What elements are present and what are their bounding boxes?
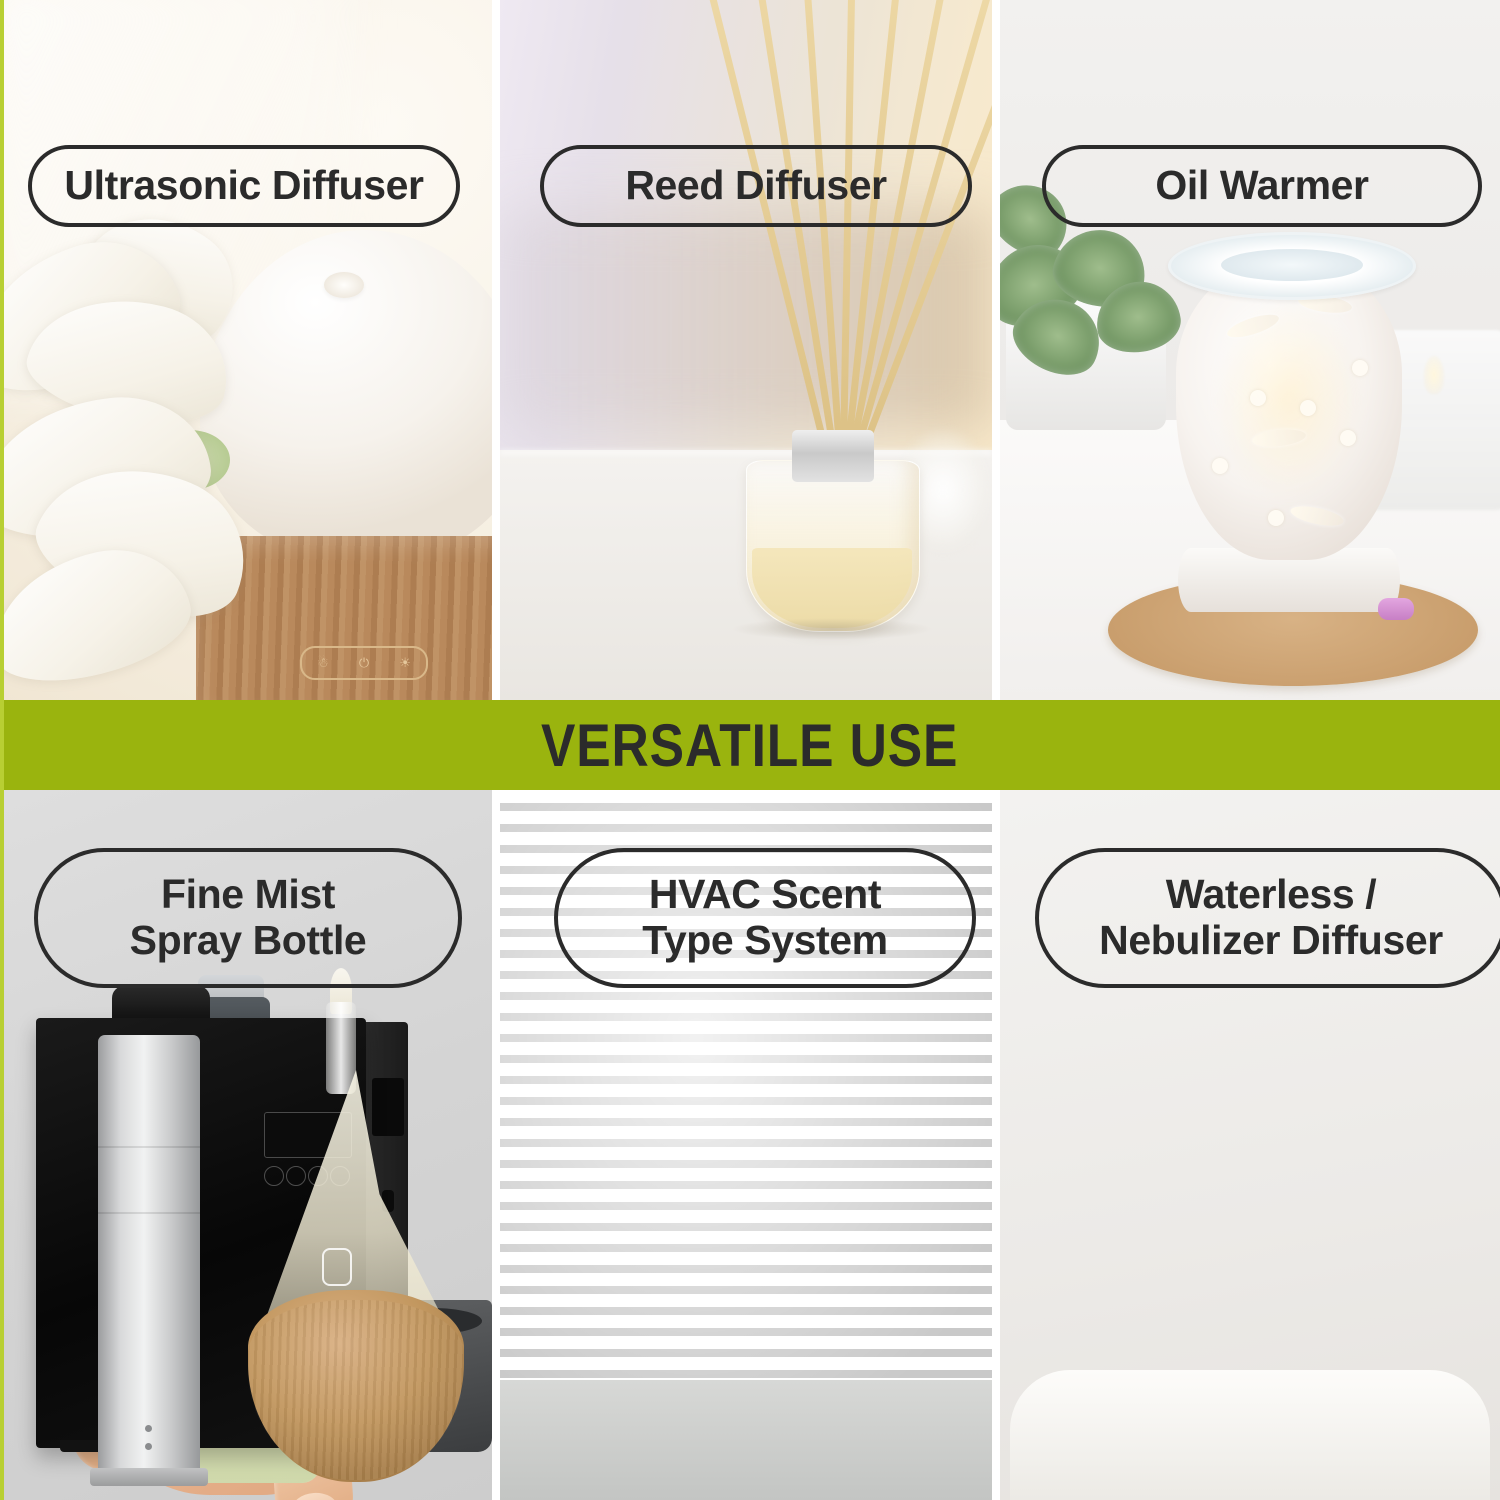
infographic-canvas: ☃ ⏻ ☀ [0, 0, 1500, 1500]
warmer-power-knob [1378, 598, 1414, 620]
label-text: Oil Warmer [1155, 163, 1368, 209]
label-text: Ultrasonic Diffuser [64, 163, 423, 209]
glass-nebulizer-inner-tube [322, 1248, 352, 1286]
flower-motif [1268, 510, 1284, 526]
label-oil-warmer[interactable]: Oil Warmer [1042, 145, 1482, 227]
cylinder-indicator-dot [145, 1443, 152, 1450]
label-fine-mist-spray-bottle[interactable]: Fine Mist Spray Bottle [34, 848, 462, 988]
banner-title: VERSATILE USE [541, 711, 958, 780]
label-line-1: HVAC Scent [649, 871, 881, 917]
label-line-1: Waterless / [1166, 871, 1377, 917]
label-waterless-nebulizer-diffuser[interactable]: Waterless / Nebulizer Diffuser [1035, 848, 1500, 988]
cylinder-indicator-dot [145, 1425, 152, 1432]
diffuser-control-strip: ☃ ⏻ ☀ [300, 646, 428, 680]
bottle-shadow [732, 618, 932, 640]
label-line-2: Spray Bottle [130, 917, 367, 963]
hvac-top-cap [112, 986, 210, 1022]
candle-flame [1424, 356, 1444, 394]
oil-warmer-dish [1168, 232, 1416, 300]
hvac-counter-surface [500, 1380, 992, 1500]
light-icon: ☀ [399, 655, 411, 671]
flower-motif [1352, 360, 1368, 376]
versatile-use-banner: VERSATILE USE [0, 700, 1500, 790]
flower-motif [1300, 400, 1316, 416]
hvac-set-button[interactable] [286, 1166, 306, 1186]
label-hvac-scent-type-system[interactable]: HVAC Scent Type System [554, 848, 976, 988]
glass-nebulizer-neck [326, 1002, 356, 1094]
label-line-2: Nebulizer Diffuser [1099, 917, 1443, 963]
power-icon: ⏻ [359, 655, 369, 671]
label-line-2: Type System [642, 917, 888, 963]
label-ultrasonic-diffuser[interactable]: Ultrasonic Diffuser [28, 145, 460, 227]
flower-motif [1340, 430, 1356, 446]
label-text: Reed Diffuser [625, 163, 886, 209]
hvac-vent-opening [372, 1078, 404, 1136]
left-accent-strip [0, 0, 4, 1500]
hvac-mode-button[interactable] [264, 1166, 284, 1186]
label-text: Waterless / Nebulizer Diffuser [1099, 872, 1443, 964]
cylinder-seam [98, 1146, 200, 1148]
panel-reed-diffuser [500, 0, 992, 700]
label-text: Fine Mist Spray Bottle [130, 872, 367, 964]
label-reed-diffuser[interactable]: Reed Diffuser [540, 145, 972, 227]
bottle-silver-collar [792, 430, 874, 482]
flower-motif [1250, 390, 1266, 406]
flower-motif [1212, 458, 1228, 474]
fingernail [291, 1491, 339, 1500]
cylinder-nebulizer [98, 1035, 200, 1480]
label-text: HVAC Scent Type System [642, 872, 888, 964]
panel-oil-warmer [1000, 0, 1500, 700]
mist-icon: ☃ [317, 655, 329, 671]
cylinder-base [90, 1468, 208, 1486]
cylinder-seam [98, 1212, 200, 1214]
label-line-1: Fine Mist [161, 871, 335, 917]
round-side-table [1010, 1370, 1490, 1500]
panel-ultrasonic-diffuser: ☃ ⏻ ☀ [0, 0, 492, 700]
